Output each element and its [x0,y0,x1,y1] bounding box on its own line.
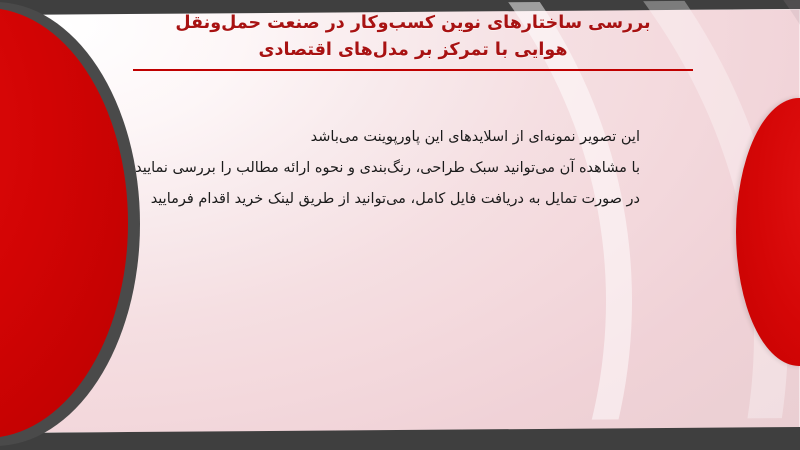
slide-title-line-2: هوایی با تمرکز بر مدل‌های اقتصادی [130,37,696,64]
body-line-2: با مشاهده آن می‌توانید سبک طراحی، رنگ‌بن… [80,153,640,184]
slide-body-text: این تصویر نمونه‌ای از اسلایدهای این پاور… [80,122,640,215]
body-line-3: در صورت تمایل به دریافت فایل کامل، می‌تو… [80,184,640,215]
slide-title-line-1: بررسی ساختارهای نوین کسب‌وکار در صنعت حم… [130,10,696,37]
title-underline-rule [133,69,693,71]
slide-title: بررسی ساختارهای نوین کسب‌وکار در صنعت حم… [130,10,696,71]
slide-canvas: بررسی ساختارهای نوین کسب‌وکار در صنعت حم… [0,0,800,450]
body-line-1: این تصویر نمونه‌ای از اسلایدهای این پاور… [80,122,640,153]
